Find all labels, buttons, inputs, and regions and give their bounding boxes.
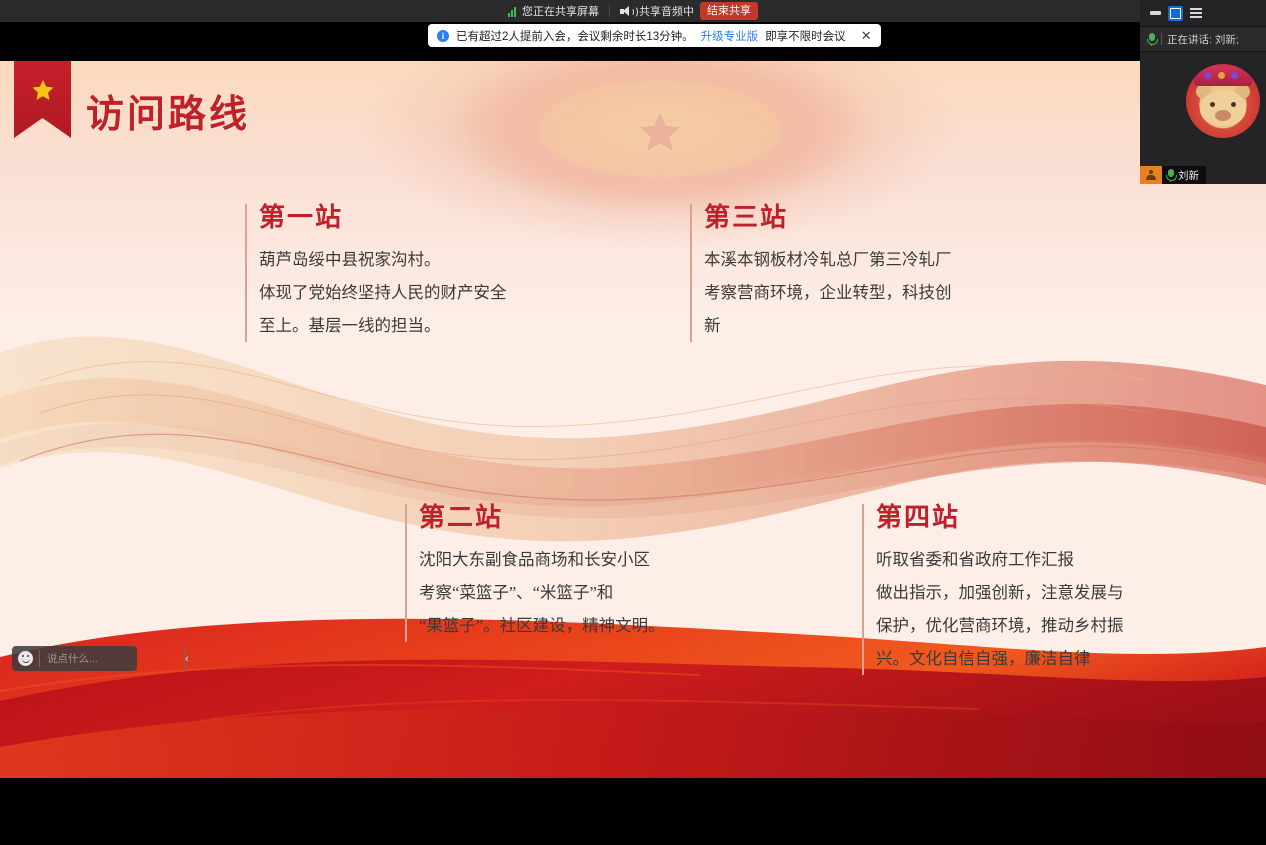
speaker-icon [620, 6, 633, 17]
participant-name: 刘新 [1178, 168, 1199, 183]
letterbox-bottom [0, 778, 1266, 845]
signal-bars-icon [508, 6, 516, 17]
menu-icon[interactable] [1188, 6, 1203, 21]
chat-input[interactable] [39, 650, 184, 667]
station-line: 沈阳大东副食品商场和长安小区 [419, 543, 665, 576]
station-line: 葫芦岛绥中县祝家沟村。 [259, 243, 507, 276]
gold-star-icon [30, 78, 56, 104]
station-block-1: 第一站 葫芦岛绥中县祝家沟村。 体现了党始终坚持人民的财产安全 至上。基层一线的… [245, 204, 507, 342]
avatar [1186, 64, 1260, 138]
station-line: 至上。基层一线的担当。 [259, 309, 507, 342]
chat-input-bar[interactable]: ‹ [12, 646, 137, 671]
toast-message-suffix: 即享不限时会议 [765, 28, 846, 44]
station-title-1: 第一站 [259, 204, 507, 233]
chevron-left-icon[interactable]: ‹ [184, 646, 189, 671]
meeting-notification-toast: i 已有超过2人提前入会，会议剩余时长13分钟。 升级专业版 即享不限时会议 ✕ [428, 24, 881, 47]
station-title-2: 第二站 [419, 504, 665, 533]
divider [1161, 33, 1162, 45]
station-title-4: 第四站 [876, 504, 1124, 533]
participant-nametag: 刘新 [1140, 166, 1206, 184]
end-share-button[interactable]: 结束共享 [700, 2, 758, 20]
station-block-4: 第四站 听取省委和省政府工作汇报 做出指示，加强创新，注意发展与 保护，优化营商… [862, 504, 1124, 675]
station-line: 考察“菜篮子”、“米篮子”和 [419, 576, 665, 609]
station-line: 保护，优化营商环境，推动乡村振 [876, 609, 1124, 642]
station-line: 本溪本钢板材冷轧总厂第三冷轧厂 [704, 243, 952, 276]
maximize-icon[interactable] [1168, 6, 1183, 21]
toast-message: 已有超过2人提前入会，会议剩余时长13分钟。 [456, 28, 694, 44]
emoji-icon[interactable] [18, 651, 33, 666]
station-line: 新 [704, 309, 952, 342]
close-icon[interactable]: ✕ [857, 29, 872, 42]
participant-name-wrap: 刘新 [1162, 168, 1206, 183]
station-block-3: 第三站 本溪本钢板材冷轧总厂第三冷轧厂 考察营商环境，企业转型，科技创 新 [690, 204, 952, 342]
audio-share-status: 共享音频中 结束共享 [610, 2, 768, 20]
info-icon: i [437, 30, 449, 42]
station-title-3: 第三站 [704, 204, 952, 233]
microphone-icon [1147, 33, 1156, 46]
station-line: 听取省委和省政府工作汇报 [876, 543, 1124, 576]
station-block-2: 第二站 沈阳大东副食品商场和长安小区 考察“菜篮子”、“米篮子”和 “果篮子”。… [405, 504, 665, 642]
meeting-top-bar: 您正在共享屏幕 共享音频中 结束共享 [0, 0, 1266, 22]
screen-share-status: 您正在共享屏幕 [498, 3, 609, 19]
video-panel: 正在讲话: 刘新; 刘新 [1140, 0, 1266, 184]
microphone-icon [1166, 169, 1175, 182]
active-speaker-bar: 正在讲话: 刘新; [1140, 26, 1266, 52]
minimize-icon[interactable] [1148, 6, 1163, 21]
shared-screen-slide: 访问路线 第一站 葫芦岛绥中县祝家沟村。 体现了党始终坚持人民的财产安全 至上。… [0, 61, 1266, 778]
active-speaker-label: 正在讲话: 刘新; [1167, 32, 1239, 47]
audio-share-label: 共享音频中 [639, 3, 694, 19]
screen-share-label: 您正在共享屏幕 [522, 3, 599, 19]
participant-video-tile[interactable]: 刘新 [1140, 52, 1266, 184]
station-line: 体现了党始终坚持人民的财产安全 [259, 276, 507, 309]
station-line: “果篮子”。社区建设，精神文明。 [419, 609, 665, 642]
station-line: 兴。文化自信自强，廉洁自律 [876, 642, 1124, 675]
station-line: 考察营商环境，企业转型，科技创 [704, 276, 952, 309]
page-title: 访问路线 [86, 83, 250, 138]
video-panel-titlebar [1140, 0, 1266, 26]
station-line: 做出指示，加强创新，注意发展与 [876, 576, 1124, 609]
upgrade-pro-link[interactable]: 升级专业版 [701, 28, 759, 44]
person-icon [1140, 166, 1162, 184]
